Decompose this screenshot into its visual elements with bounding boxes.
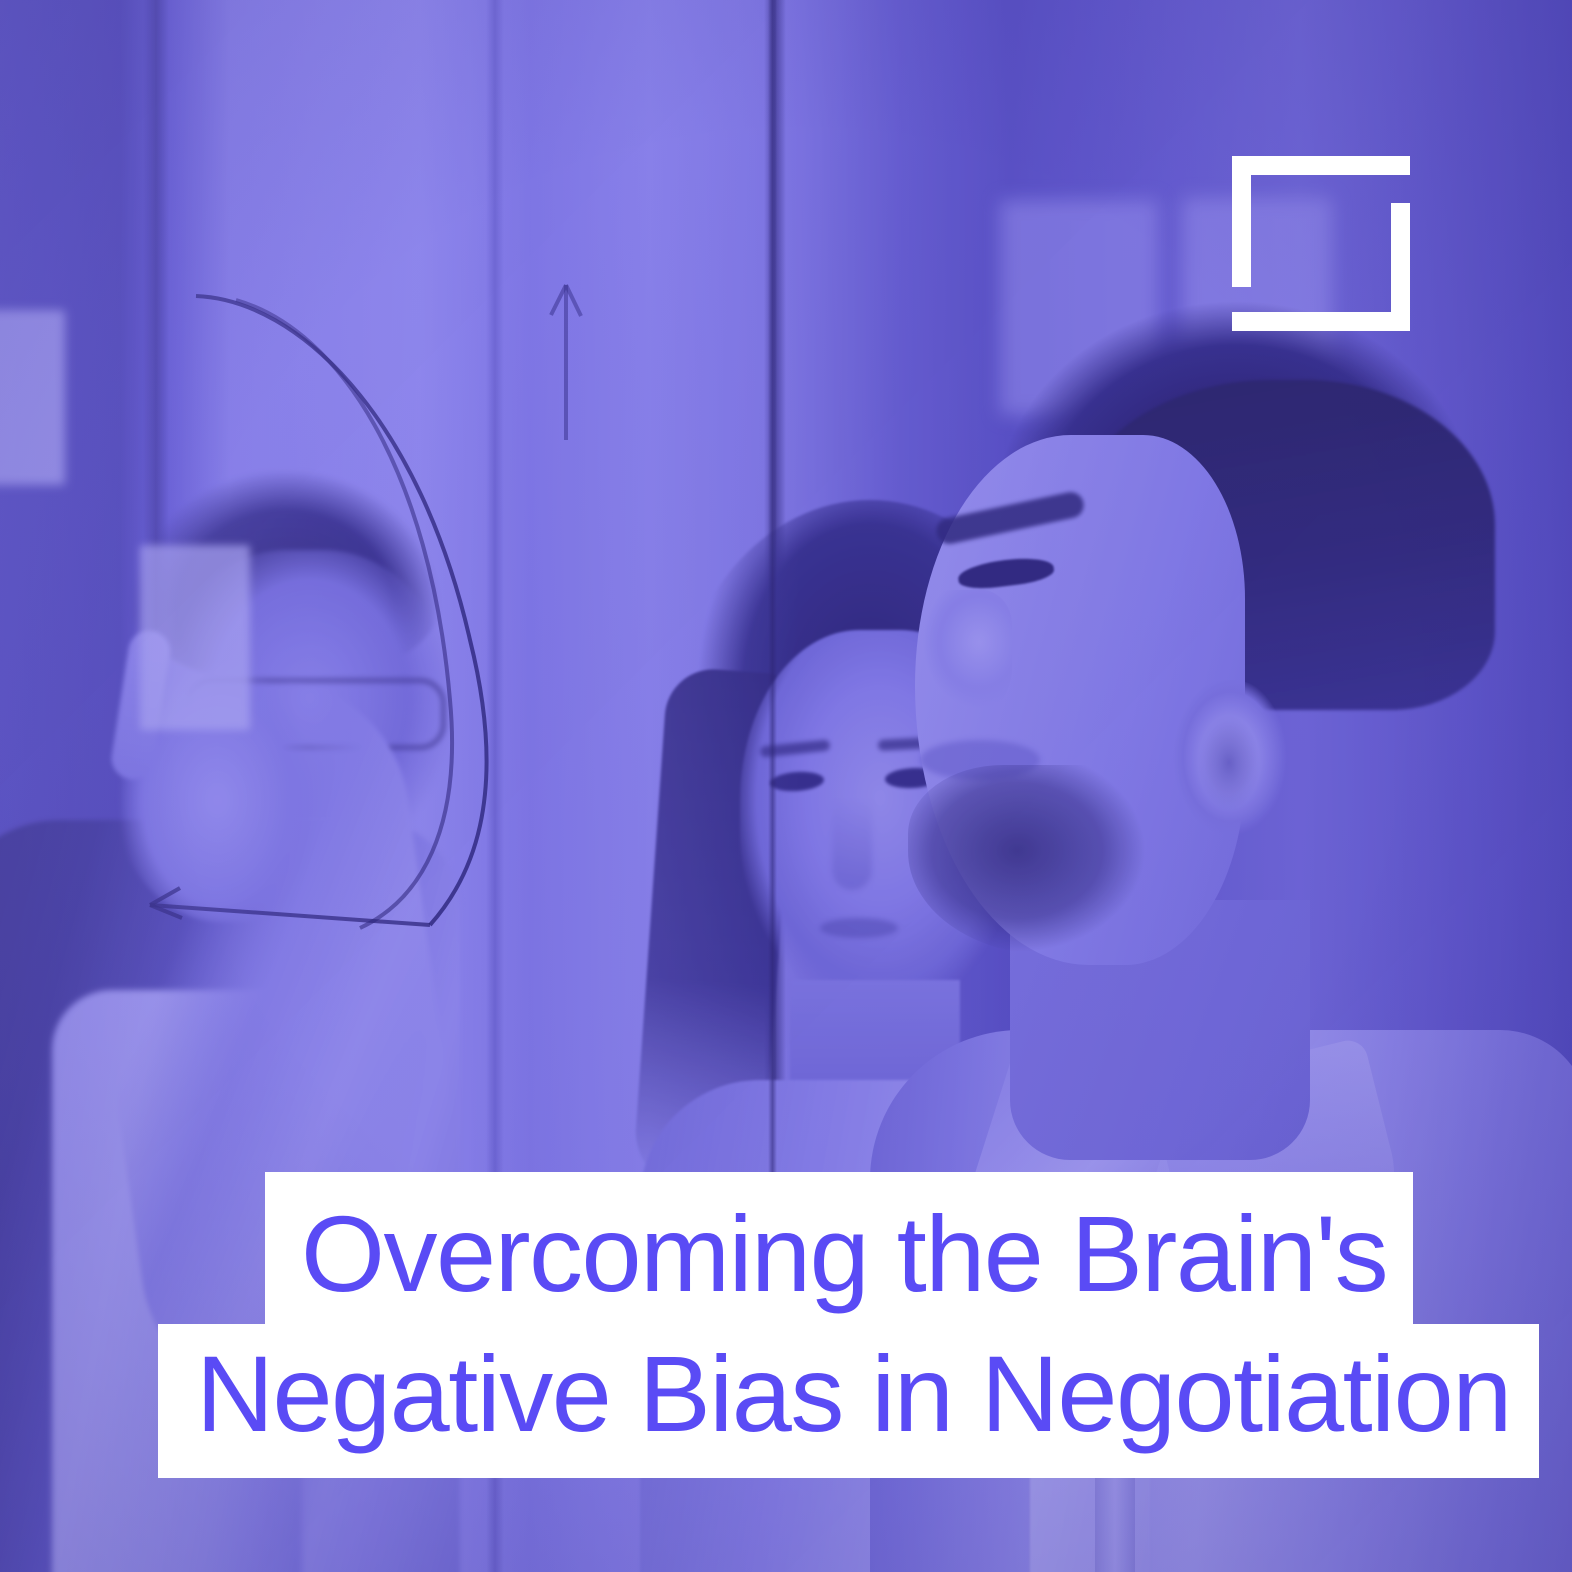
bracket-corners-logo[interactable] [1232,156,1410,331]
page-title: Overcoming the Brain's Negative Bias in … [0,1172,1572,1478]
social-share-card: Overcoming the Brain's Negative Bias in … [0,0,1572,1572]
title-line-2: Negative Bias in Negotiation [158,1324,1539,1478]
bracket-corners-icon [1232,156,1410,331]
title-line-1: Overcoming the Brain's [265,1172,1413,1324]
